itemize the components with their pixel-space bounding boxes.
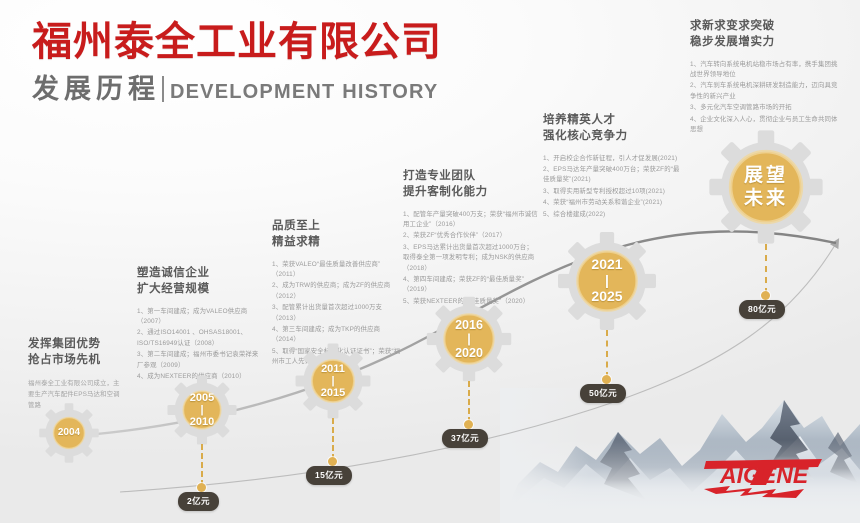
- list-item: 1、配管年产量突破400万支；荣获“福州市诚信用工企业”（2016）: [403, 210, 538, 231]
- list-item: 1、汽车转向系统电机站稳市场占有率，携手集团挑战世界领导地位: [690, 60, 840, 81]
- value-pill: 37亿元: [442, 429, 488, 448]
- value-stem-dot: [602, 375, 611, 384]
- list-item: 2、成为TRW的供应商；成为ZF的供应商（2012）: [272, 281, 402, 302]
- development-history-poster: 福州泰全工业有限公司 发展历程 DEVELOPMENT HISTORY: [0, 0, 860, 523]
- milestone-block-2004: 发挥集团优势 抢占市场先机 福州泰全工业有限公司成立，主要生产汽车配件EPS马达…: [28, 336, 138, 411]
- milestone-title: 塑造诚信企业 扩大经营规模: [137, 265, 261, 298]
- list-item: 2、EPS马达年产量突破400万台；荣获ZF的“最佳质量奖”(2021): [543, 165, 681, 186]
- value-stem: [332, 418, 336, 460]
- value-stem-dot: [761, 291, 770, 300]
- value-stem: [606, 330, 610, 378]
- subtitle-row: 发展历程 DEVELOPMENT HISTORY: [32, 76, 442, 103]
- value-pill: 80亿元: [739, 300, 785, 319]
- list-item: 1、荣获VALEO“最佳质量改善供应商”（2011）: [272, 260, 402, 281]
- value-stem: [201, 444, 205, 486]
- milestone-title: 品质至上 精益求精: [272, 218, 402, 251]
- list-item: 2、荣获ZF“优秀合作伙伴”（2017）: [403, 231, 538, 241]
- gear-node-2005-2010[interactable]: 2005 | 2010: [166, 374, 238, 446]
- milestone-list: 1、第一车间建成；成为VALEO供应商（2007） 2、通过ISO14001 、…: [137, 307, 261, 383]
- subtitle-divider: [162, 76, 164, 102]
- taigene-logo: AIGENE: [700, 455, 826, 499]
- milestone-block-future: 求新求变求突破 稳步发展增实力 1、汽车转向系统电机站稳市场占有率，携手集团挑战…: [690, 18, 840, 136]
- list-item: 4、第四车间建成；荣获ZF的“最佳质量奖”（2019）: [403, 275, 538, 296]
- value-pill: 50亿元: [580, 384, 626, 403]
- list-item: 3、第二车间建成；福州市委书记袁荣祥来厂参观（2009）: [137, 350, 261, 371]
- value-pill: 2亿元: [178, 492, 219, 511]
- list-item: 1、第一车间建成；成为VALEO供应商（2007）: [137, 307, 261, 328]
- value-stem-dot: [328, 457, 337, 466]
- list-item: 5、综合楼建成(2022): [543, 210, 681, 220]
- svg-text:AIGENE: AIGENE: [719, 462, 809, 488]
- list-item: 3、EPS马达累计出货量首次超过1000万台；取得泰全第一项发明专利；成为NSK…: [403, 243, 538, 274]
- milestone-list: 1、开启校企合作新征程，引人才促发展(2021) 2、EPS马达年产量突破400…: [543, 154, 681, 220]
- list-item: 1、开启校企合作新征程，引人才促发展(2021): [543, 154, 681, 164]
- value-pill: 15亿元: [306, 466, 352, 485]
- subtitle-en: DEVELOPMENT HISTORY: [170, 82, 438, 103]
- list-item: 2、汽车刹车系统电机深耕研发制造能力，迈向具竞争性的新兴产业: [690, 81, 840, 102]
- milestone-title: 打造专业团队 提升客制化能力: [403, 168, 538, 201]
- list-item: 3、多元化汽车空调管路市场的开拓: [690, 103, 840, 113]
- page-title: 福州泰全工业有限公司: [32, 22, 442, 62]
- list-item: 2、通过ISO14001 、OHSAS18001、ISO/TS16949认证（2…: [137, 328, 261, 349]
- list-item: 3、配管累计出货量首次超过1000万支（2013）: [272, 303, 402, 324]
- milestone-title: 发挥集团优势 抢占市场先机: [28, 336, 138, 369]
- milestone-list: 1、汽车转向系统电机站稳市场占有率，携手集团挑战世界领导地位 2、汽车刹车系统电…: [690, 60, 840, 136]
- gear-node-future[interactable]: 展望 未来: [707, 128, 825, 246]
- milestone-block-2021-2025: 培养精英人才 强化核心竞争力 1、开启校企合作新征程，引人才促发展(2021) …: [543, 112, 681, 221]
- milestone-block-2005-2010: 塑造诚信企业 扩大经营规模 1、第一车间建成；成为VALEO供应商（2007） …: [137, 265, 261, 383]
- gear-node-2011-2015[interactable]: 2011 | 2015: [294, 342, 372, 420]
- poster-header: 福州泰全工业有限公司 发展历程 DEVELOPMENT HISTORY: [32, 22, 442, 103]
- subtitle-cn: 发展历程: [32, 76, 160, 103]
- milestone-list: 1、配管年产量突破400万支；荣获“福州市诚信用工企业”（2016） 2、荣获Z…: [403, 210, 538, 307]
- gear-node-2021-2025[interactable]: 2021 | 2025: [556, 230, 658, 332]
- gear-node-2004[interactable]: 2004: [38, 402, 100, 464]
- list-item: 3、取得实用新型专利授权超过10项(2021): [543, 187, 681, 197]
- value-stem: [765, 244, 769, 294]
- value-stem-dot: [197, 483, 206, 492]
- milestone-block-2016-2020: 打造专业团队 提升客制化能力 1、配管年产量突破400万支；荣获“福州市诚信用工…: [403, 168, 538, 308]
- gear-node-2016-2020[interactable]: 2016 | 2020: [425, 295, 513, 383]
- value-stem-dot: [464, 420, 473, 429]
- list-item: 4、荣获“福州市劳动关系和谐企业”(2021): [543, 198, 681, 208]
- milestone-title: 求新求变求突破 稳步发展增实力: [690, 18, 840, 51]
- value-stem: [468, 381, 472, 423]
- milestone-title: 培养精英人才 强化核心竞争力: [543, 112, 681, 145]
